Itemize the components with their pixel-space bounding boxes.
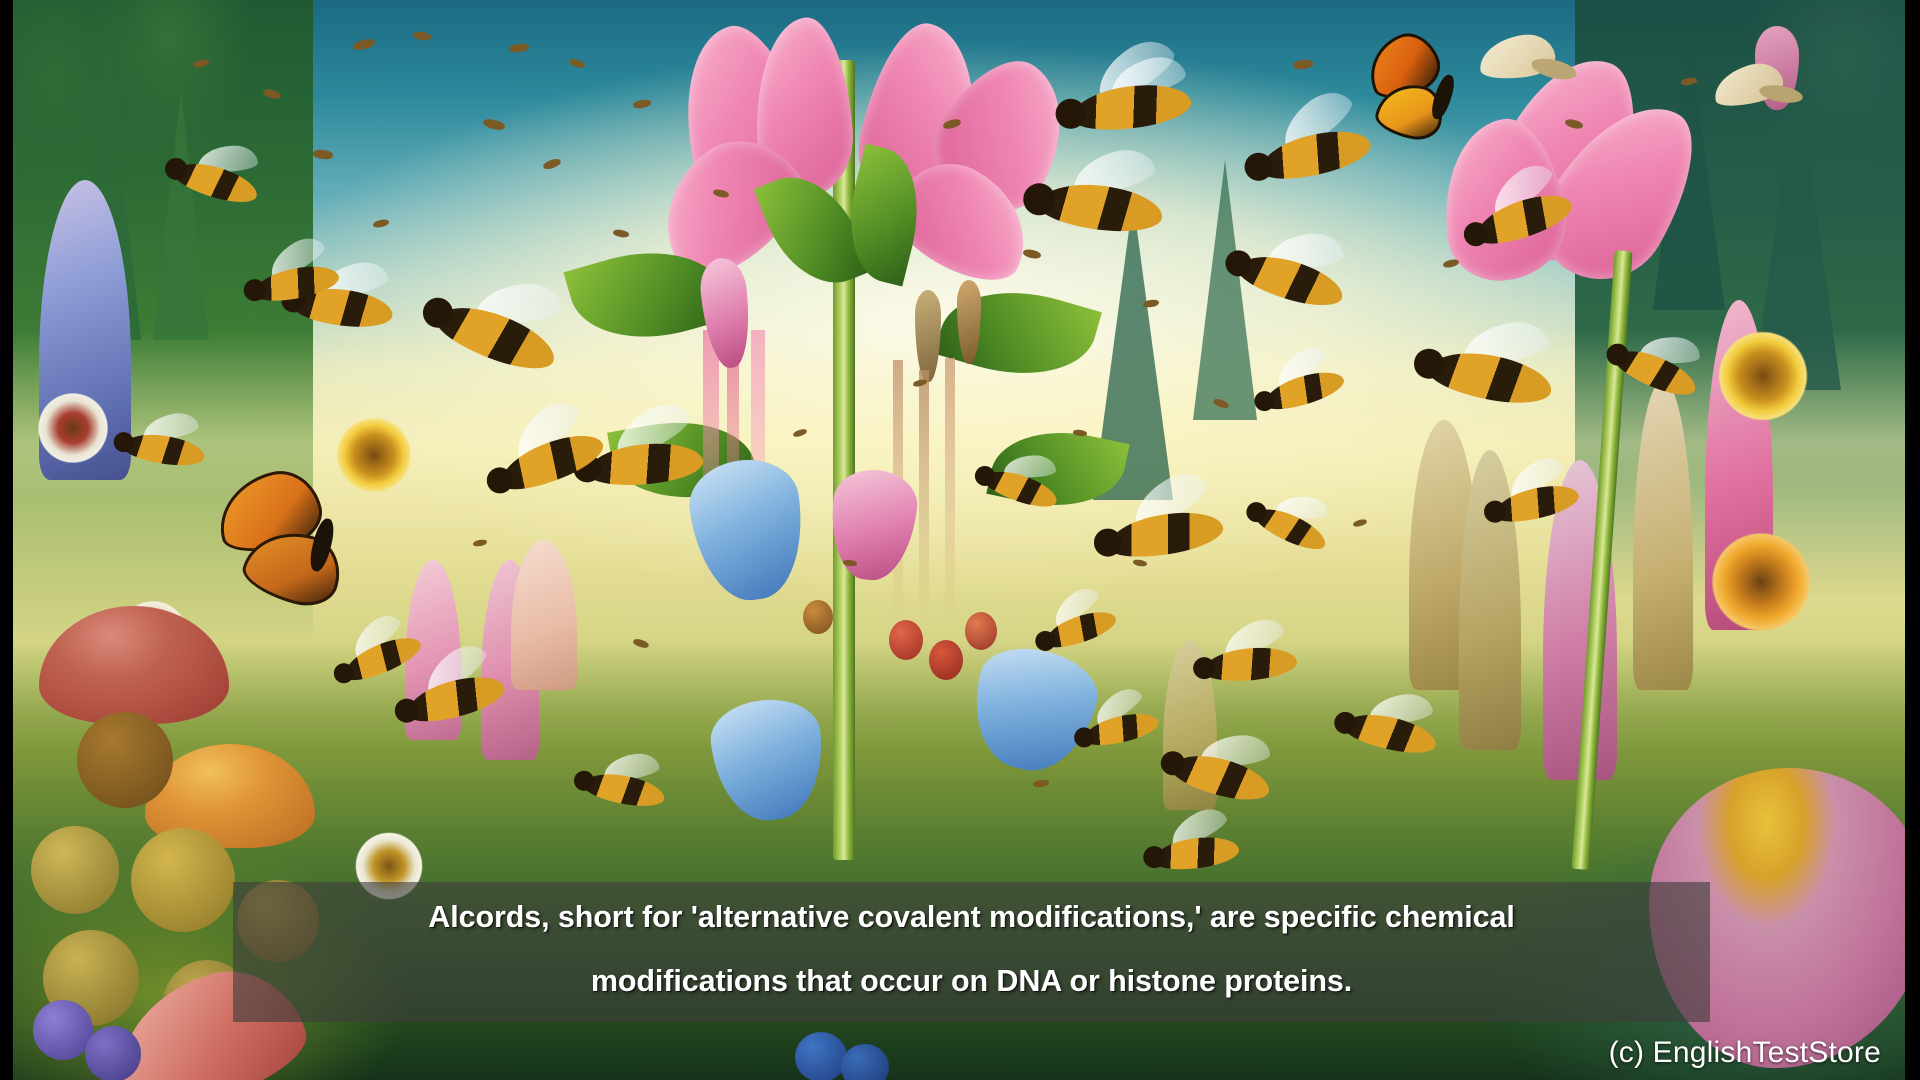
berry-cluster [795,1032,847,1080]
moth-body [1758,82,1804,105]
caption-line-2: modifications that occur on DNA or histo… [233,966,1710,997]
distant-insect [542,157,562,171]
distant-insect [1442,258,1459,269]
golden-globe-flower [131,828,235,932]
caption-line-1: Alcords, short for 'alternative covalent… [233,902,1710,933]
honeybee [1019,152,1188,258]
golden-globe-flower [31,826,119,914]
distant-insect [413,31,432,41]
daisy-flower [25,380,121,476]
distant-insect [313,149,334,160]
berry-pod [929,640,963,680]
moth-body [1530,55,1579,84]
distant-insect [1293,59,1314,70]
filament-cluster [919,370,929,620]
letterbox-bar-right [1905,0,1920,1080]
honeybee [1235,93,1401,213]
berry-pod [803,600,833,634]
honeybee [1190,624,1316,704]
pale-moth [1713,66,1813,136]
distant-insect [632,98,651,109]
berry-cluster [85,1026,141,1080]
bee-body [1069,78,1194,136]
daisy-flower [1697,310,1829,442]
orange-butterfly [213,470,403,620]
berry-pod [889,620,923,660]
letterbox-bar-left [0,0,13,1080]
berry-cluster [33,1000,93,1060]
distant-insect [1022,248,1041,260]
distant-insect [372,218,389,228]
illustration-canvas: Alcords, short for 'alternative covalent… [13,0,1905,1080]
distant-insect [352,37,376,51]
distant-insect [613,229,630,239]
subtitle-caption-box: Alcords, short for 'alternative covalent… [233,882,1710,1022]
filament-cluster [945,358,955,626]
screenshot-root: Alcords, short for 'alternative covalent… [0,0,1920,1080]
bee-body [121,430,206,469]
bee-body [1426,345,1556,410]
berry-pod [965,612,997,650]
bee-body [581,769,667,811]
pale-moth [1479,36,1589,116]
distant-insect [509,43,530,53]
conifer-tree [153,90,209,340]
copyright-watermark: (c) EnglishTestStore [1609,1036,1881,1070]
bee-body [1037,179,1165,236]
daisy-flower [1691,512,1831,652]
distant-insect [482,117,506,131]
golden-globe-flower [77,712,173,808]
honeybee [1048,49,1219,160]
bee-body [1202,643,1299,685]
bee-body [1105,505,1226,565]
distant-insect [568,58,585,70]
